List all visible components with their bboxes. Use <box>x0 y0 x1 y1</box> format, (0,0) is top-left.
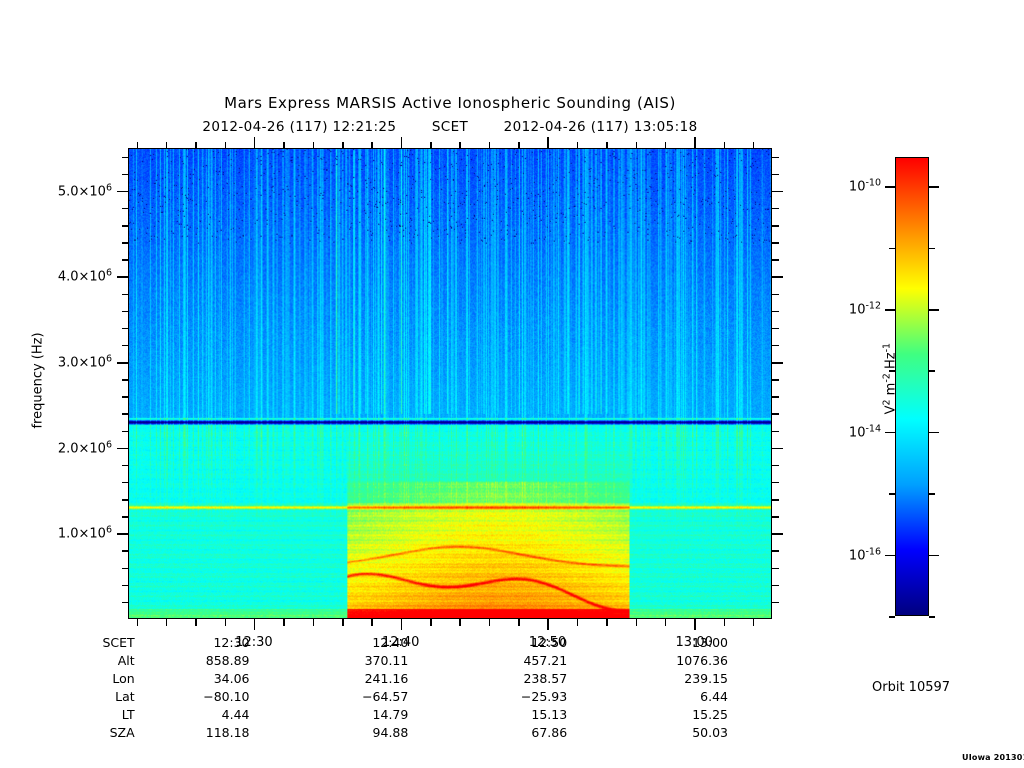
colorbar-tick-label: 10-16 <box>849 546 881 563</box>
ephemeris-value: 15.25 <box>611 706 772 724</box>
ephemeris-value: 370.11 <box>294 652 453 670</box>
ephemeris-value: 50.03 <box>611 724 772 742</box>
ephemeris-value: 12:50 <box>452 634 611 652</box>
ephemeris-value: 241.16 <box>294 670 453 688</box>
ephemeris-row: LT4.4414.7915.1315.25 <box>52 706 772 724</box>
ephemeris-value: 12:30 <box>135 634 294 652</box>
y-tick-label: 5.0×106 <box>58 182 112 199</box>
colorbar-tick-label: 10-14 <box>849 423 881 440</box>
y-tick-label: 4.0×106 <box>58 268 112 285</box>
time-system-label: SCET <box>432 119 468 135</box>
ephemeris-value: 118.18 <box>135 724 294 742</box>
page-title: Mars Express MARSIS Active Ionospheric S… <box>0 94 900 112</box>
ephemeris-value: 94.88 <box>294 724 453 742</box>
ephemeris-row-label: Lat <box>52 688 135 706</box>
y-tick-label: 1.0×106 <box>58 525 112 542</box>
orbit-label: Orbit 10597 <box>872 680 950 695</box>
colorbar-ticks: 10-1010-1210-1410-16 <box>895 157 929 616</box>
ephemeris-row: Lat−80.10−64.57−25.936.44 <box>52 688 772 706</box>
ephemeris-value: −64.57 <box>294 688 453 706</box>
ephemeris-value: −25.93 <box>452 688 611 706</box>
footer-stamp: UIowa 20130125 <box>962 753 1024 762</box>
ephemeris-value: 6.44 <box>611 688 772 706</box>
ephemeris-value: 457.21 <box>452 652 611 670</box>
subtitle-timerange: 2012-04-26 (117) 12:21:25 SCET 2012-04-2… <box>0 119 900 135</box>
end-datetime: 2012-04-26 (117) 13:05:18 <box>504 119 698 135</box>
ephemeris-value: −80.10 <box>135 688 294 706</box>
ephemeris-value: 1076.36 <box>611 652 772 670</box>
ephemeris-table: SCET12:3012:4012:5013:00Alt858.89370.114… <box>52 634 772 742</box>
ephemeris-row: SZA118.1894.8867.8650.03 <box>52 724 772 742</box>
ephemeris-row-label: SCET <box>52 634 135 652</box>
ephemeris-value: 4.44 <box>135 706 294 724</box>
ephemeris-value: 239.15 <box>611 670 772 688</box>
ephemeris-row: Lon34.06241.16238.57239.15 <box>52 670 772 688</box>
ephemeris-value: 34.06 <box>135 670 294 688</box>
ephemeris-row-label: SZA <box>52 724 135 742</box>
ephemeris-row: Alt858.89370.11457.211076.36 <box>52 652 772 670</box>
axis-overlay: 1.0×1062.0×1063.0×1064.0×1065.0×10612:30… <box>128 148 772 619</box>
ephemeris-row-label: Lon <box>52 670 135 688</box>
colorbar-tick-label: 10-10 <box>849 178 881 195</box>
ephemeris-value: 67.86 <box>452 724 611 742</box>
start-datetime: 2012-04-26 (117) 12:21:25 <box>202 119 396 135</box>
ephemeris-row-label: LT <box>52 706 135 724</box>
y-tick-label: 3.0×106 <box>58 353 112 370</box>
ephemeris-row: SCET12:3012:4012:5013:00 <box>52 634 772 652</box>
y-axis-label: frequency (Hz) <box>31 281 46 481</box>
ephemeris-row-label: Alt <box>52 652 135 670</box>
y-tick-label: 2.0×106 <box>58 439 112 456</box>
ephemeris-value: 15.13 <box>452 706 611 724</box>
colorbar-label: V2 m-2 Hz-1 <box>881 289 898 469</box>
colorbar-tick-label: 10-12 <box>849 300 881 317</box>
ephemeris-value: 14.79 <box>294 706 453 724</box>
ephemeris-value: 858.89 <box>135 652 294 670</box>
ephemeris-value: 238.57 <box>452 670 611 688</box>
ephemeris-value: 12:40 <box>294 634 453 652</box>
ephemeris-value: 13:00 <box>611 634 772 652</box>
